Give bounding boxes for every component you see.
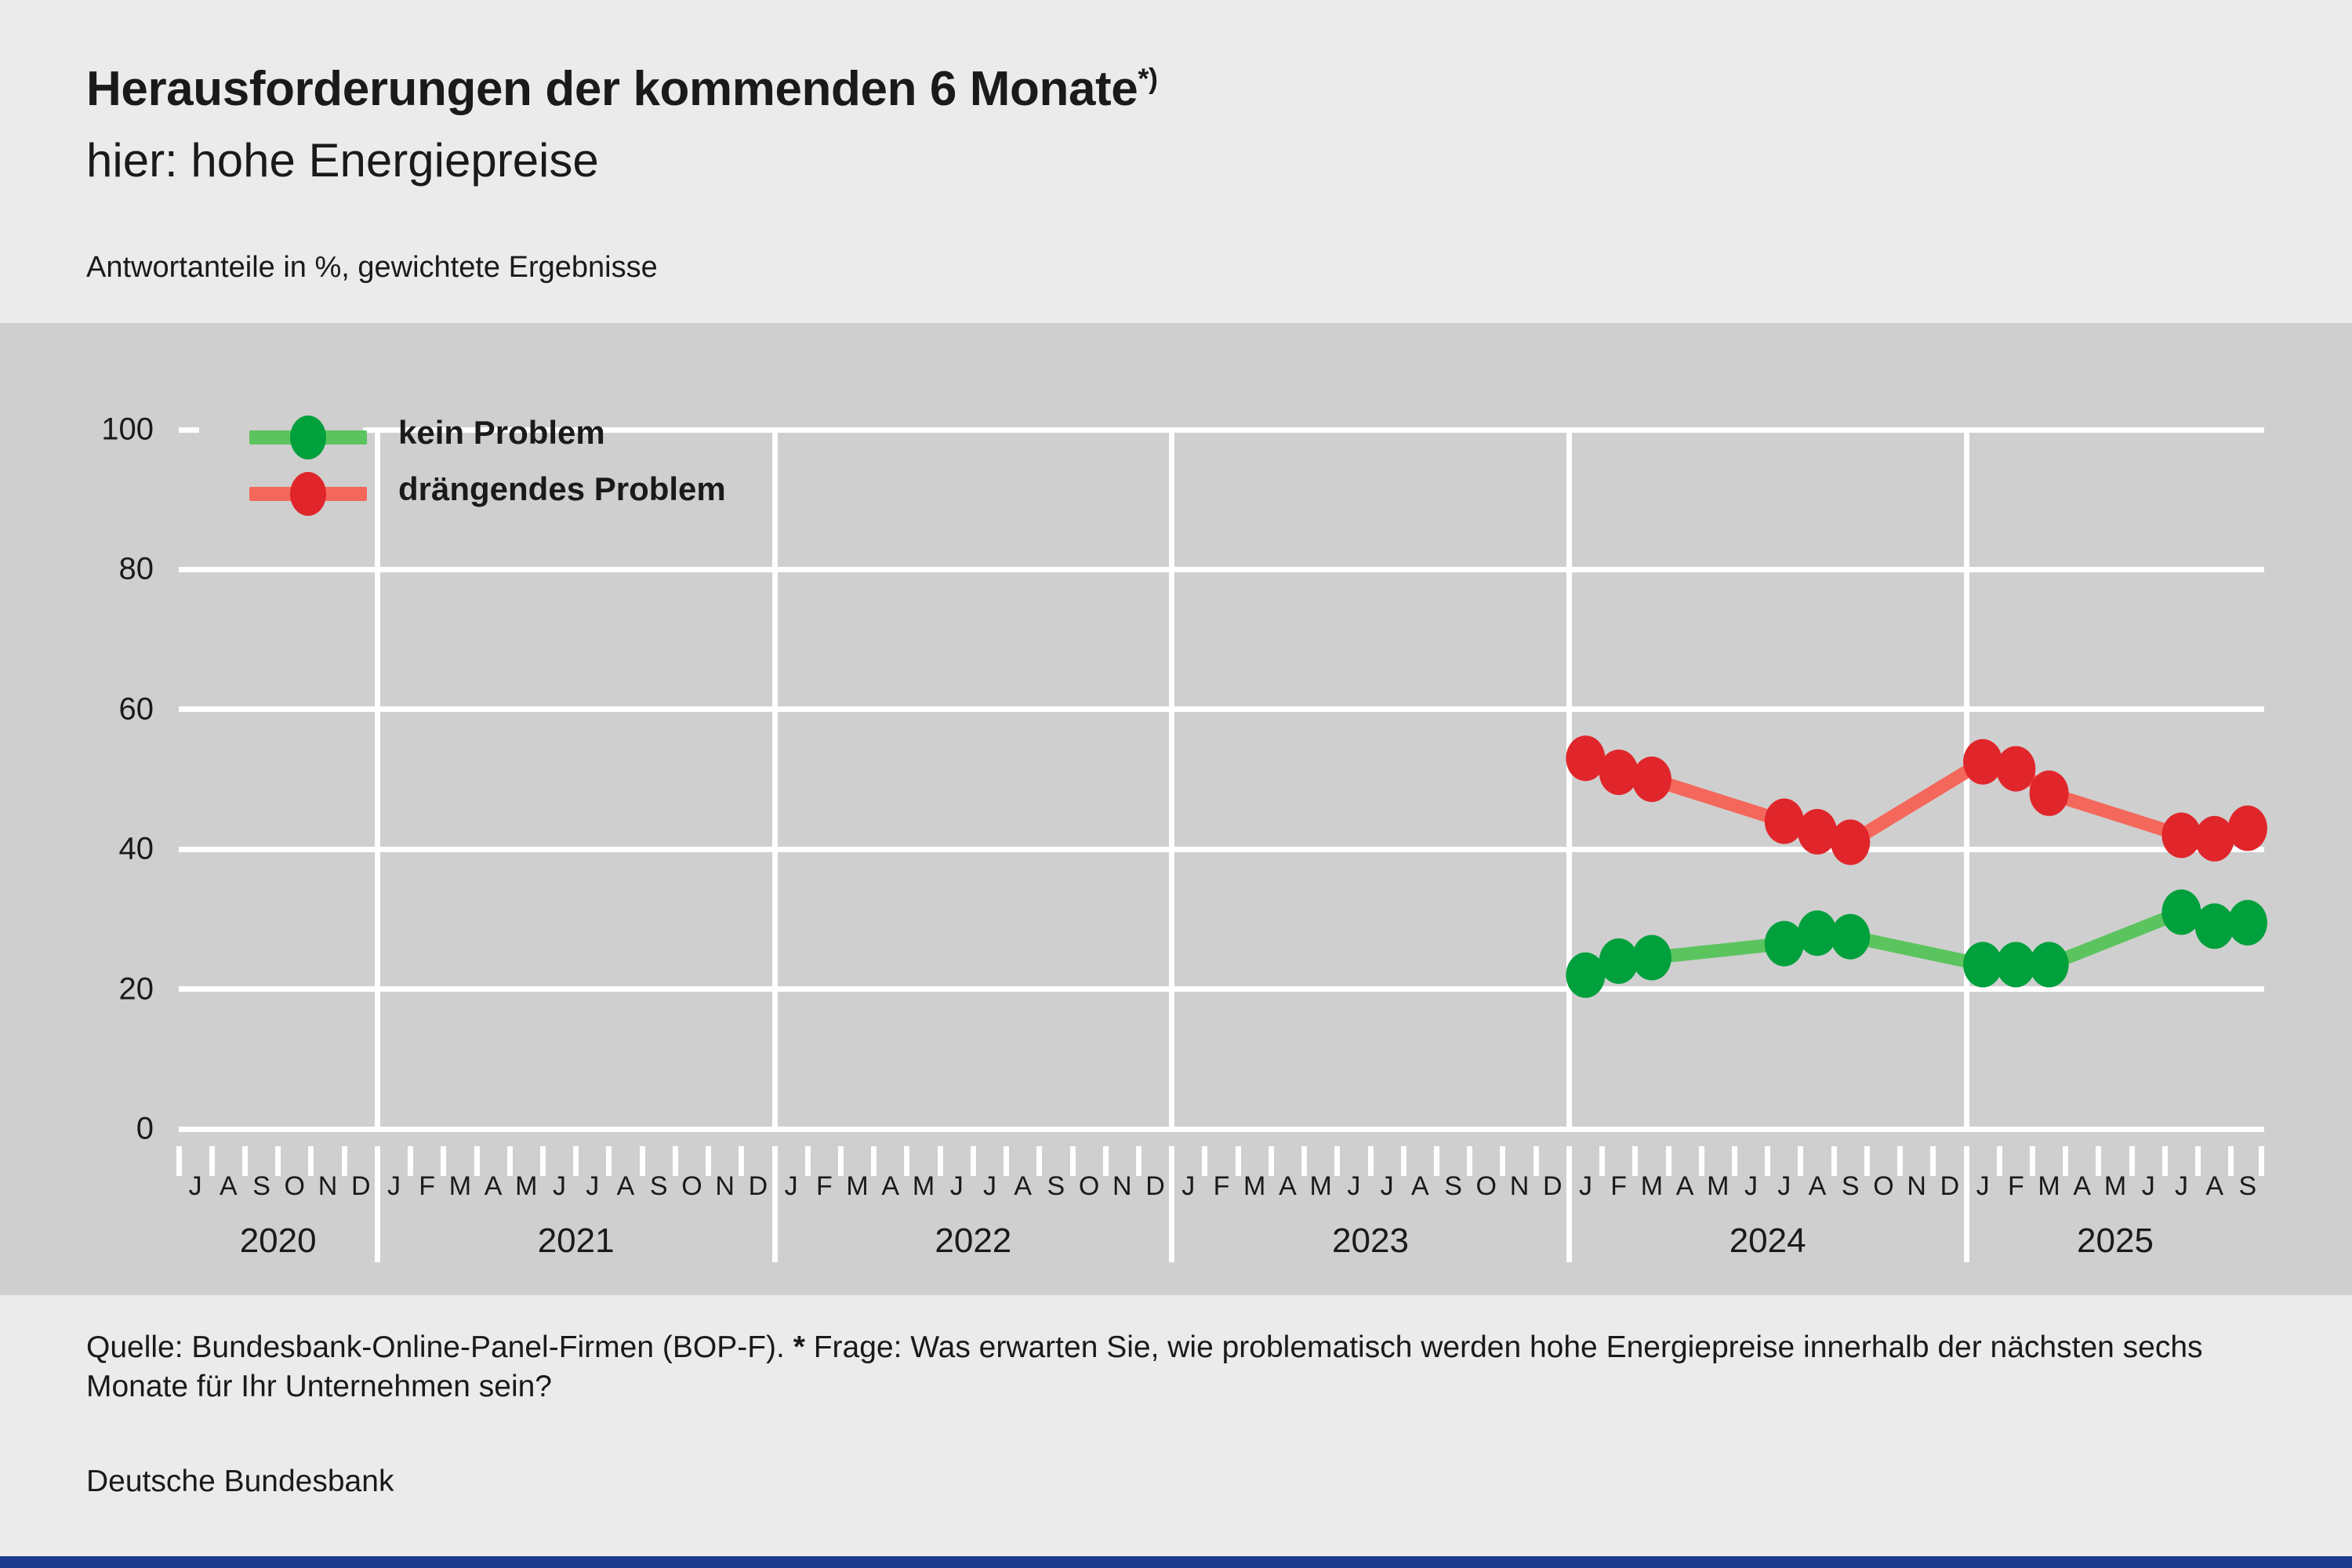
x-axis-month-label: F xyxy=(1214,1171,1230,1202)
x-axis-year-label: 2022 xyxy=(935,1221,1011,1261)
x-axis-tick-mark xyxy=(1997,1146,2002,1176)
y-axis-tick-label: 100 xyxy=(101,412,154,448)
x-axis-tick-mark xyxy=(1666,1146,1671,1176)
x-axis: JASONDJFMAMJJASONDJFMAMJJASONDJFMAMJJASO… xyxy=(179,1146,2264,1287)
x-axis-month-label: M xyxy=(1641,1171,1663,1202)
x-axis-month-label: M xyxy=(2038,1171,2060,1202)
x-axis-month-label: A xyxy=(220,1171,238,1202)
x-axis-month-label: O xyxy=(681,1171,702,1202)
data-point-marker[interactable] xyxy=(1798,809,1837,855)
x-axis-month-label: J xyxy=(983,1171,996,1202)
x-axis-tick-mark xyxy=(2259,1146,2264,1176)
x-axis-month-label: M xyxy=(449,1171,471,1202)
x-axis-tick-mark xyxy=(1202,1146,1207,1176)
x-axis-tick-mark xyxy=(1599,1146,1605,1176)
x-axis-tick-mark xyxy=(1136,1146,1142,1176)
page-title-text: Herausforderungen der kommenden 6 Monate xyxy=(86,62,1138,116)
x-axis-month-label: D xyxy=(351,1171,371,1202)
chart-header: Herausforderungen der kommenden 6 Monate… xyxy=(0,0,2352,314)
year-separator-axis xyxy=(1964,1146,1969,1262)
x-axis-month-label: A xyxy=(881,1171,899,1202)
x-axis-month-label: O xyxy=(285,1171,305,1202)
x-axis-tick-mark xyxy=(1897,1146,1903,1176)
x-axis-tick-mark xyxy=(838,1146,844,1176)
x-axis-tick-mark xyxy=(1467,1146,1472,1176)
y-axis-tick-label: 20 xyxy=(119,971,154,1007)
series-layer xyxy=(179,430,2264,1129)
x-axis-tick-mark xyxy=(2228,1146,2234,1176)
x-axis-tick-mark xyxy=(2162,1146,2168,1176)
x-axis-tick-mark xyxy=(1798,1146,1803,1176)
x-axis-month-label: N xyxy=(1112,1171,1132,1202)
x-axis-month-label: S xyxy=(2239,1171,2257,1202)
x-axis-month-label: O xyxy=(1079,1171,1099,1202)
x-axis-month-label: J xyxy=(1181,1171,1195,1202)
x-axis-month-label: A xyxy=(1014,1171,1032,1202)
x-axis-tick-mark xyxy=(1434,1146,1439,1176)
x-axis-month-label: O xyxy=(1873,1171,1893,1202)
x-axis-tick-mark xyxy=(1500,1146,1505,1176)
x-axis-tick-mark xyxy=(606,1146,612,1176)
year-separator-axis xyxy=(375,1146,380,1262)
x-axis-tick-mark xyxy=(1269,1146,1274,1176)
x-axis-tick-mark xyxy=(2096,1146,2101,1176)
x-axis-month-label: M xyxy=(1243,1171,1265,1202)
x-axis-tick-mark xyxy=(1368,1146,1374,1176)
x-axis-tick-mark xyxy=(540,1146,546,1176)
year-separator-axis xyxy=(772,1146,778,1262)
data-point-marker[interactable] xyxy=(1599,750,1639,795)
x-axis-tick-mark xyxy=(573,1146,579,1176)
x-axis-month-label: J xyxy=(586,1171,599,1202)
x-axis-month-label: A xyxy=(1411,1171,1429,1202)
data-point-marker[interactable] xyxy=(1765,921,1804,967)
x-axis-tick-mark xyxy=(904,1146,909,1176)
x-axis-tick-mark xyxy=(1103,1146,1109,1176)
x-axis-tick-mark xyxy=(938,1146,943,1176)
x-axis-month-label: F xyxy=(2008,1171,2024,1202)
x-axis-month-label: A xyxy=(617,1171,635,1202)
source-note: Quelle: Bundesbank-Online-Panel-Firmen (… xyxy=(86,1328,2281,1406)
page-title: Herausforderungen der kommenden 6 Monate… xyxy=(86,61,1158,117)
title-footnote-marker: *) xyxy=(1138,62,1157,94)
x-axis-month-label: M xyxy=(1309,1171,1331,1202)
x-axis-tick-mark xyxy=(507,1146,513,1176)
x-axis-tick-mark xyxy=(1070,1146,1076,1176)
year-separator-axis xyxy=(1566,1146,1572,1262)
x-axis-month-label: M xyxy=(1707,1171,1729,1202)
series-draengendes-problem xyxy=(1566,735,2267,865)
x-axis-month-label: J xyxy=(1777,1171,1791,1202)
x-axis-month-label: M xyxy=(846,1171,868,1202)
x-axis-month-label: F xyxy=(419,1171,435,1202)
chart-page: Herausforderungen der kommenden 6 Monate… xyxy=(0,0,2352,1568)
data-point-marker[interactable] xyxy=(1996,746,2035,792)
x-axis-month-label: D xyxy=(1543,1171,1563,1202)
x-axis-month-label: J xyxy=(785,1171,798,1202)
chart-units-note: Antwortanteile in %, gewichtete Ergebnis… xyxy=(86,251,658,285)
year-separator-axis xyxy=(1169,1146,1174,1262)
x-axis-tick-mark xyxy=(441,1146,446,1176)
x-axis-month-label: J xyxy=(1976,1171,1990,1202)
y-axis-tick-label: 80 xyxy=(119,552,154,587)
y-axis-tick-label: 60 xyxy=(119,691,154,727)
data-point-marker[interactable] xyxy=(1798,910,1837,956)
data-point-marker[interactable] xyxy=(1632,757,1671,802)
x-axis-month-label: J xyxy=(1381,1171,1394,1202)
x-axis-month-label: A xyxy=(1676,1171,1694,1202)
x-axis-tick-mark xyxy=(1004,1146,1009,1176)
bottom-accent-bar xyxy=(0,1556,2352,1568)
x-axis-month-label: D xyxy=(1145,1171,1165,1202)
data-point-marker[interactable] xyxy=(2030,942,2069,987)
x-axis-month-label: D xyxy=(1940,1171,1960,1202)
x-axis-year-label: 2023 xyxy=(1332,1221,1409,1261)
x-axis-tick-mark xyxy=(673,1146,678,1176)
x-axis-tick-mark xyxy=(1632,1146,1638,1176)
chart-panel: 020406080100kein Problemdrängendes Probl… xyxy=(0,323,2352,1295)
x-axis-month-label: M xyxy=(515,1171,537,1202)
x-axis-tick-mark xyxy=(1236,1146,1241,1176)
x-axis-tick-mark xyxy=(1831,1146,1837,1176)
x-axis-tick-mark xyxy=(2195,1146,2201,1176)
source-prefix: Quelle: Bundesbank-Online-Panel-Firmen (… xyxy=(86,1330,793,1364)
x-axis-month-label: N xyxy=(1510,1171,1530,1202)
x-axis-year-label: 2024 xyxy=(1730,1221,1806,1261)
x-axis-year-label: 2021 xyxy=(538,1221,615,1261)
x-axis-tick-mark xyxy=(1765,1146,1770,1176)
series-line xyxy=(1585,913,2247,975)
data-point-marker[interactable] xyxy=(2195,816,2234,862)
x-axis-month-label: A xyxy=(1809,1171,1827,1202)
x-axis-tick-mark xyxy=(408,1146,413,1176)
x-axis-tick-mark xyxy=(706,1146,711,1176)
x-axis-tick-mark xyxy=(1864,1146,1870,1176)
series-kein-problem xyxy=(1566,890,2267,998)
x-axis-month-label: S xyxy=(650,1171,668,1202)
x-axis-tick-mark xyxy=(209,1146,215,1176)
x-axis-tick-mark xyxy=(1401,1146,1406,1176)
x-axis-tick-mark xyxy=(342,1146,347,1176)
x-axis-tick-mark xyxy=(1036,1146,1042,1176)
x-axis-month-label: J xyxy=(1579,1171,1592,1202)
x-axis-tick-mark xyxy=(2063,1146,2068,1176)
x-axis-month-label: J xyxy=(1744,1171,1758,1202)
x-axis-month-label: J xyxy=(1347,1171,1360,1202)
data-point-marker[interactable] xyxy=(2161,812,2201,858)
x-axis-month-label: M xyxy=(2104,1171,2126,1202)
source-marker: * xyxy=(793,1330,805,1364)
x-axis-month-label: A xyxy=(1279,1171,1297,1202)
x-axis-month-label: S xyxy=(1444,1171,1462,1202)
x-axis-month-label: S xyxy=(1842,1171,1860,1202)
x-axis-tick-mark xyxy=(805,1146,811,1176)
x-axis-month-label: A xyxy=(485,1171,503,1202)
x-axis-tick-mark xyxy=(2129,1146,2135,1176)
x-axis-month-label: N xyxy=(318,1171,338,1202)
x-axis-month-label: F xyxy=(1610,1171,1627,1202)
x-axis-month-label: D xyxy=(749,1171,768,1202)
x-axis-month-label: J xyxy=(2142,1171,2155,1202)
x-axis-tick-mark xyxy=(176,1146,182,1176)
data-point-marker[interactable] xyxy=(1831,819,1870,865)
chart-footer: Quelle: Bundesbank-Online-Panel-Firmen (… xyxy=(0,1295,2352,1568)
plot-area: 020406080100kein Problemdrängendes Probl… xyxy=(179,430,2264,1129)
x-axis-tick-mark xyxy=(1699,1146,1704,1176)
x-axis-month-label: S xyxy=(252,1171,270,1202)
data-point-marker[interactable] xyxy=(1963,739,2002,785)
x-axis-tick-mark xyxy=(640,1146,645,1176)
x-axis-year-label: 2020 xyxy=(240,1221,317,1261)
y-axis-tick-label: 0 xyxy=(136,1112,154,1147)
organisation-name: Deutsche Bundesbank xyxy=(86,1465,394,1499)
x-axis-month-label: A xyxy=(2205,1171,2223,1202)
x-axis-month-label: J xyxy=(950,1171,964,1202)
x-axis-tick-mark xyxy=(1334,1146,1340,1176)
x-axis-year-label: 2025 xyxy=(2077,1221,2154,1261)
x-axis-month-label: M xyxy=(913,1171,935,1202)
y-axis-tick-label: 40 xyxy=(119,832,154,867)
x-axis-month-label: N xyxy=(715,1171,735,1202)
data-point-marker[interactable] xyxy=(2030,771,2069,816)
x-axis-month-label: F xyxy=(816,1171,833,1202)
x-axis-tick-mark xyxy=(474,1146,480,1176)
x-axis-month-label: O xyxy=(1476,1171,1497,1202)
x-axis-month-label: J xyxy=(189,1171,202,1202)
x-axis-tick-mark xyxy=(1301,1146,1307,1176)
x-axis-tick-mark xyxy=(1732,1146,1737,1176)
x-axis-month-label: J xyxy=(2175,1171,2188,1202)
x-axis-month-label: S xyxy=(1047,1171,1065,1202)
x-axis-tick-mark xyxy=(2030,1146,2035,1176)
x-axis-tick-mark xyxy=(1930,1146,1936,1176)
data-point-marker[interactable] xyxy=(1831,914,1870,960)
series-line xyxy=(1585,758,2247,842)
x-axis-tick-mark xyxy=(1534,1146,1539,1176)
page-subtitle-line: hier: hohe Energiepreise xyxy=(86,133,599,187)
x-axis-tick-mark xyxy=(971,1146,976,1176)
data-point-marker[interactable] xyxy=(1765,799,1804,844)
data-point-marker[interactable] xyxy=(2228,805,2267,851)
x-axis-month-label: J xyxy=(553,1171,566,1202)
x-axis-month-label: A xyxy=(2073,1171,2091,1202)
x-axis-month-label: J xyxy=(387,1171,401,1202)
x-axis-month-label: N xyxy=(1907,1171,1926,1202)
x-axis-tick-mark xyxy=(242,1146,248,1176)
x-axis-tick-mark xyxy=(275,1146,281,1176)
x-axis-tick-mark xyxy=(739,1146,744,1176)
data-point-marker[interactable] xyxy=(1632,935,1671,981)
x-axis-tick-mark xyxy=(871,1146,877,1176)
x-axis-tick-mark xyxy=(308,1146,314,1176)
data-point-marker[interactable] xyxy=(2228,900,2267,946)
